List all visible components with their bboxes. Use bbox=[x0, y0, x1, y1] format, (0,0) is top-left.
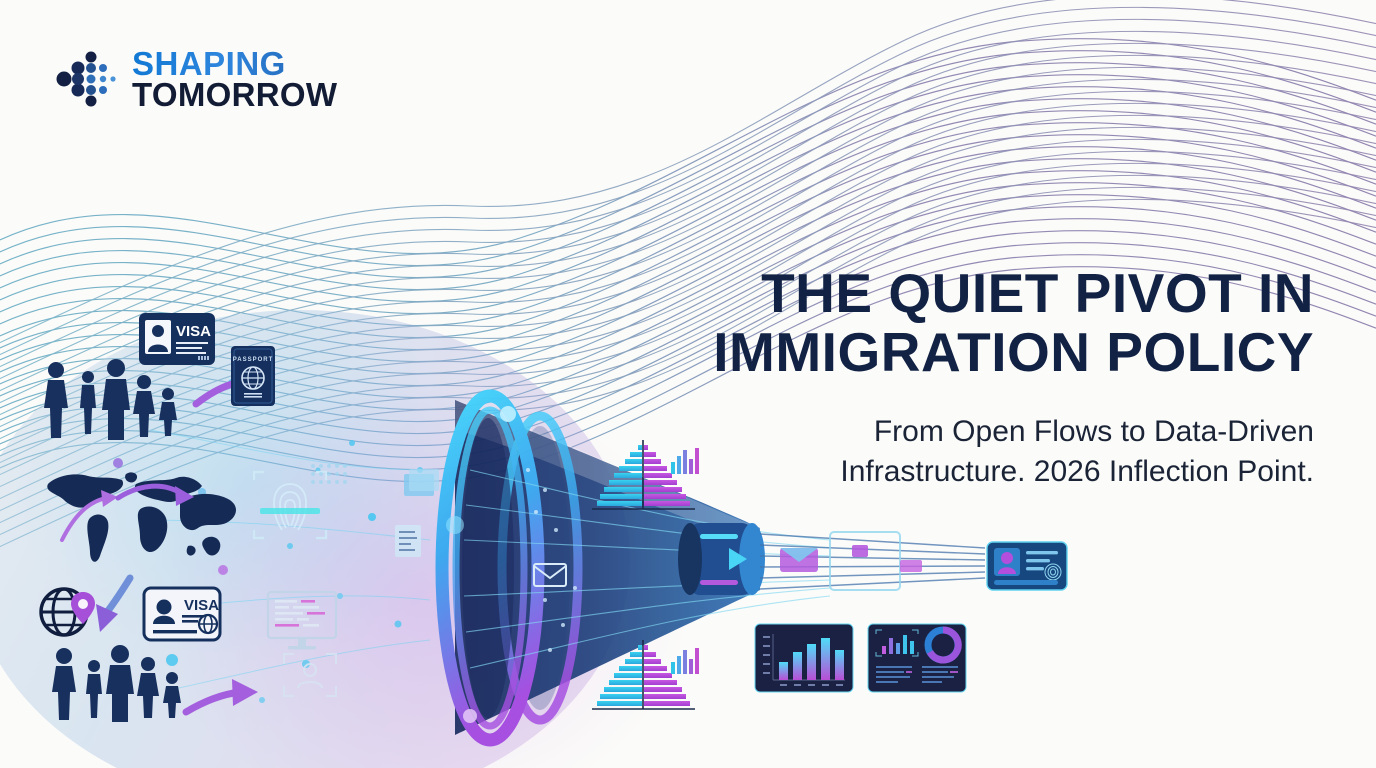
migration-arrow-right bbox=[118, 486, 182, 498]
poster-canvas: SHAPING TOMORROW VISA PASSPORT bbox=[0, 0, 1376, 768]
subtitle-line2: Infrastructure. 2026 Inflection Point. bbox=[614, 452, 1314, 492]
dot-arrow-mark bbox=[56, 48, 118, 110]
pipeline-play-icon bbox=[678, 523, 765, 595]
svg-text:PASSPORT: PASSPORT bbox=[233, 357, 274, 363]
page-subtitle: From Open Flows to Data-Driven Infrastru… bbox=[614, 412, 1314, 491]
svg-text:VISA: VISA bbox=[184, 597, 219, 614]
headline-line1: THE QUIET PIVOT IN bbox=[654, 264, 1314, 323]
subtitle-line1: From Open Flows to Data-Driven bbox=[614, 412, 1314, 452]
population-pyramid-bottom bbox=[592, 640, 695, 709]
dashboard-analytics-panel bbox=[868, 624, 966, 692]
data-stream-dots bbox=[526, 468, 577, 652]
svg-text:VISA: VISA bbox=[176, 323, 211, 340]
id-card-biometric-icon bbox=[986, 541, 1068, 596]
globe-pin-icon bbox=[38, 582, 102, 645]
grid-dots-icon bbox=[311, 464, 347, 484]
passport-icon: PASSPORT bbox=[230, 345, 276, 412]
document-icon bbox=[395, 525, 421, 557]
migration-arrow-right-head bbox=[175, 486, 194, 506]
background-wave-lines bbox=[0, 0, 1376, 768]
face-scan-icon bbox=[284, 654, 336, 696]
dashboard-bar-panel bbox=[755, 624, 853, 692]
world-map-icon bbox=[47, 472, 236, 561]
fingerprint-scanner-icon bbox=[254, 472, 326, 538]
logo-wordmark: SHAPING TOMORROW bbox=[132, 48, 337, 110]
flow-arrow-bottom bbox=[186, 679, 258, 712]
visa-card-top: VISA bbox=[138, 312, 216, 371]
logo-line2: TOMORROW bbox=[132, 79, 337, 110]
mini-bar-chart-bottom bbox=[671, 648, 699, 674]
family-silhouette-bottom bbox=[52, 645, 181, 722]
document-stack-icon bbox=[404, 469, 439, 496]
particle-dots bbox=[113, 379, 423, 703]
envelope-icon bbox=[534, 564, 566, 586]
migration-arrow-left-head bbox=[101, 490, 118, 507]
page-title: THE QUIET PIVOT IN IMMIGRATION POLICY bbox=[654, 264, 1314, 382]
monitor-data-icon bbox=[268, 592, 336, 650]
headline-line2: IMMIGRATION POLICY bbox=[654, 323, 1314, 382]
migration-arrow-left bbox=[62, 498, 106, 540]
logo-line1: SHAPING bbox=[132, 48, 337, 79]
brand-logo[interactable]: SHAPING TOMORROW bbox=[56, 48, 337, 110]
family-silhouette-top bbox=[44, 359, 177, 440]
visa-card-bottom: VISA bbox=[142, 586, 222, 647]
